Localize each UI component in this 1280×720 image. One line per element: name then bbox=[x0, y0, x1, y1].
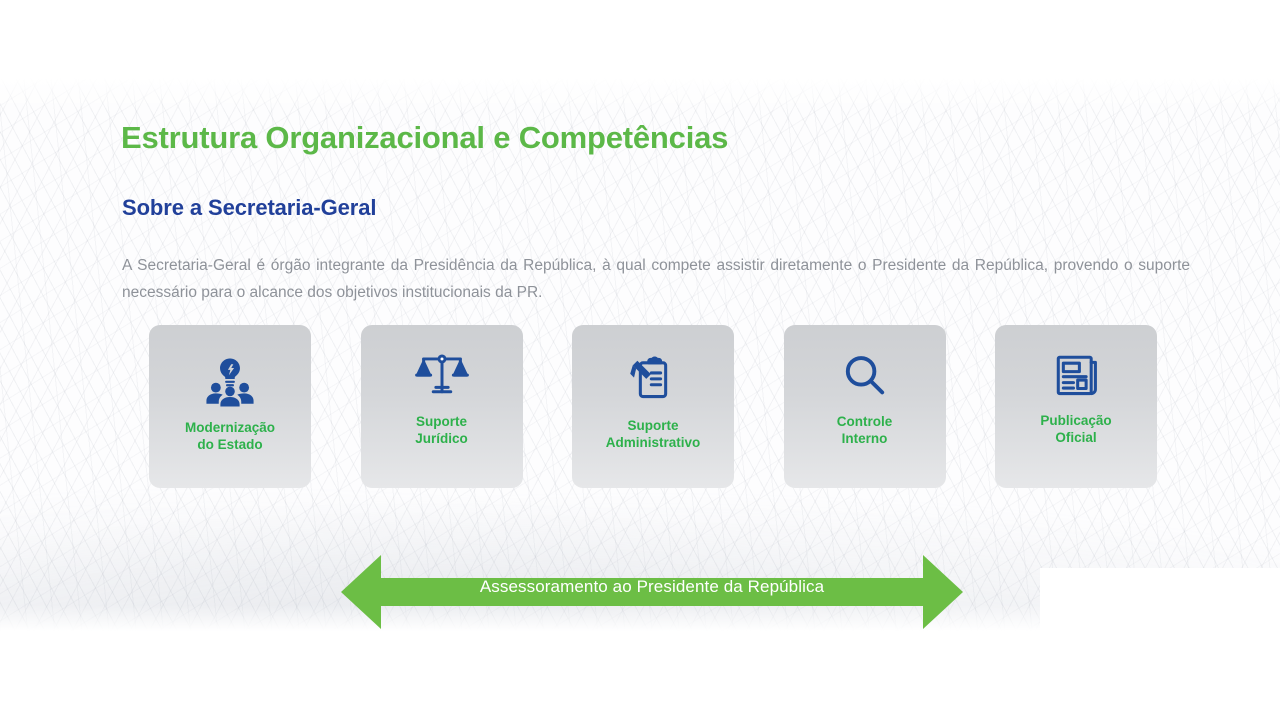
card-label: Modernização do Estado bbox=[185, 419, 275, 453]
card-suporte-juridico[interactable]: Suporte Jurídico bbox=[361, 325, 523, 488]
card-label: Controle Interno bbox=[837, 413, 893, 447]
card-controle-interno[interactable]: Controle Interno bbox=[784, 325, 946, 488]
double-headed-arrow-banner bbox=[341, 550, 963, 631]
section-subtitle: Sobre a Secretaria-Geral bbox=[122, 195, 376, 221]
newspaper-icon bbox=[1043, 344, 1109, 406]
clipboard-pencil-icon bbox=[620, 347, 686, 409]
card-label: Publicação Oficial bbox=[1040, 412, 1111, 446]
card-modernizacao-do-estado[interactable]: Modernização do Estado bbox=[149, 325, 311, 488]
people-lightbulb-icon bbox=[197, 351, 263, 413]
description-paragraph: A Secretaria-Geral é órgão integrante da… bbox=[122, 252, 1190, 306]
slide-content-area: Estrutura Organizacional e Competências … bbox=[0, 78, 1280, 631]
scales-of-justice-icon bbox=[409, 345, 475, 407]
card-suporte-administrativo[interactable]: Suporte Administrativo bbox=[572, 325, 734, 488]
background-top-fade bbox=[0, 78, 1280, 112]
card-label: Suporte Administrativo bbox=[606, 417, 701, 451]
white-overlay-panel bbox=[1040, 568, 1280, 631]
double-headed-arrow-shape bbox=[341, 550, 963, 631]
card-publicacao-oficial[interactable]: Publicação Oficial bbox=[995, 325, 1157, 488]
card-label: Suporte Jurídico bbox=[415, 413, 468, 447]
page-title: Estrutura Organizacional e Competências bbox=[121, 120, 728, 156]
magnifying-glass-icon bbox=[832, 345, 898, 407]
competency-card-row: Modernização do Estado bbox=[149, 325, 1157, 488]
